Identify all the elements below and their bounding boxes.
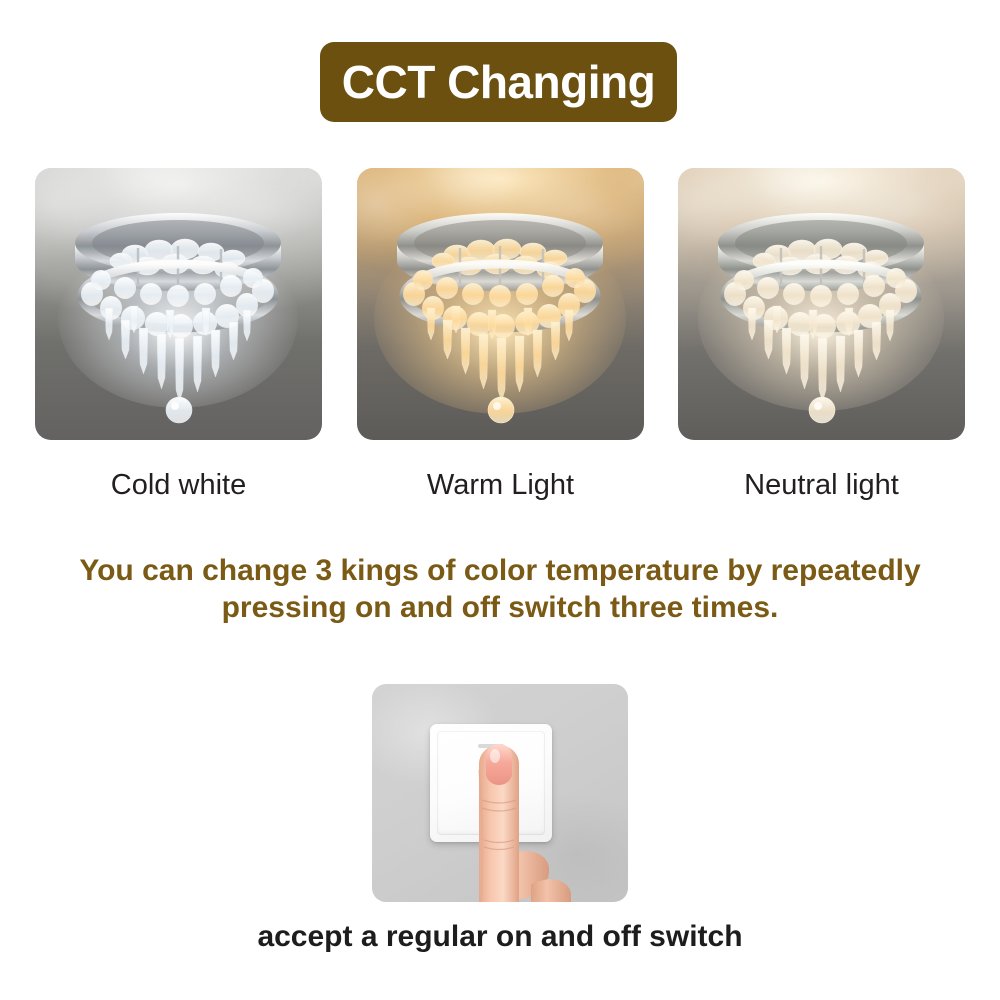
caption-cold-white: Cold white [35, 462, 322, 508]
chandelier-warm-light-icon [357, 168, 644, 440]
chandelier-neutral-light-icon [678, 168, 965, 440]
page-title: CCT Changing [342, 59, 655, 105]
pointing-finger-icon [372, 684, 628, 902]
description-line-1: You can change 3 kings of color temperat… [40, 552, 960, 589]
switch-caption: accept a regular on and off switch [0, 920, 1000, 954]
cct-comparison-panels [35, 168, 965, 440]
product-infographic: CCT Changing [0, 0, 1000, 1000]
description-text: You can change 3 kings of color temperat… [40, 552, 960, 626]
panel-cold-white [35, 168, 322, 440]
panel-neutral-light [678, 168, 965, 440]
panel-warm-light [357, 168, 644, 440]
title-banner: CCT Changing [320, 42, 677, 122]
caption-neutral-light: Neutral light [678, 462, 965, 508]
chandelier-cold-white-icon [35, 168, 322, 440]
switch-illustration [372, 684, 628, 902]
panel-captions: Cold white Warm Light Neutral light [35, 462, 965, 508]
description-line-2: pressing on and off switch three times. [40, 589, 960, 626]
caption-warm-light: Warm Light [357, 462, 644, 508]
